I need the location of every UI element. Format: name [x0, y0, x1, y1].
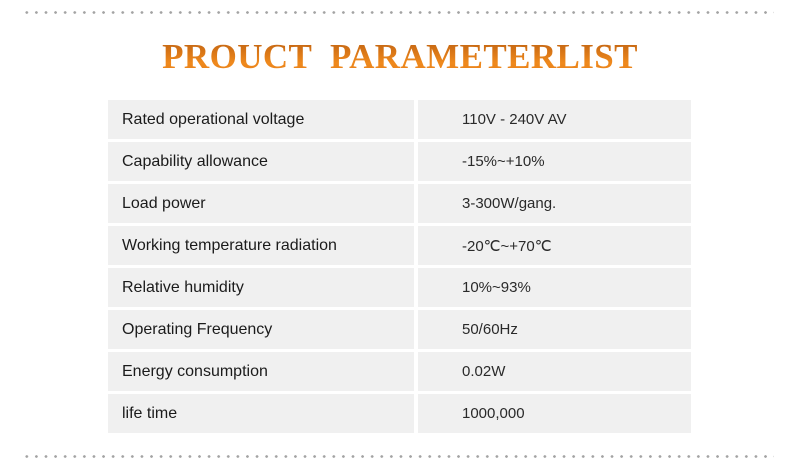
spec-label-cell: Rated operational voltage: [108, 100, 414, 139]
spec-label-cell: Energy consumption: [108, 352, 414, 391]
spec-value-cell: -20℃~+70℃: [418, 226, 691, 265]
spec-value-cell: 10%~93%: [418, 268, 691, 307]
spec-value-cell: 0.02W: [418, 352, 691, 391]
table-row: Load power3-300W/gang.: [108, 184, 691, 223]
spec-value-cell: 50/60Hz: [418, 310, 691, 349]
spec-label-cell: Working temperature radiation: [108, 226, 414, 265]
table-row: Capability allowance-15%~+10%: [108, 142, 691, 181]
table-row: Relative humidity10%~93%: [108, 268, 691, 307]
dotted-divider-bottom: [22, 455, 774, 458]
spec-value-cell: 3-300W/gang.: [418, 184, 691, 223]
table-row: Energy consumption0.02W: [108, 352, 691, 391]
table-row: Rated operational voltage110V - 240V AV: [108, 100, 691, 139]
spec-label-cell: life time: [108, 394, 414, 433]
page-title-container: PROUCT PARAMETERLIST: [0, 38, 800, 76]
table-row: Operating Frequency50/60Hz: [108, 310, 691, 349]
spec-value-cell: 1000,000: [418, 394, 691, 433]
spec-value-cell: 110V - 240V AV: [418, 100, 691, 139]
product-parameter-page: PROUCT PARAMETERLIST Rated operational v…: [0, 0, 800, 474]
spec-value-cell: -15%~+10%: [418, 142, 691, 181]
spec-label-cell: Relative humidity: [108, 268, 414, 307]
spec-label-cell: Operating Frequency: [108, 310, 414, 349]
page-title: PROUCT PARAMETERLIST: [162, 38, 638, 76]
dotted-divider-top: [22, 11, 774, 14]
table-row: Working temperature radiation-20℃~+70℃: [108, 226, 691, 265]
table-row: life time1000,000: [108, 394, 691, 433]
spec-label-cell: Capability allowance: [108, 142, 414, 181]
spec-label-cell: Load power: [108, 184, 414, 223]
spec-table: Rated operational voltage110V - 240V AVC…: [108, 100, 691, 433]
